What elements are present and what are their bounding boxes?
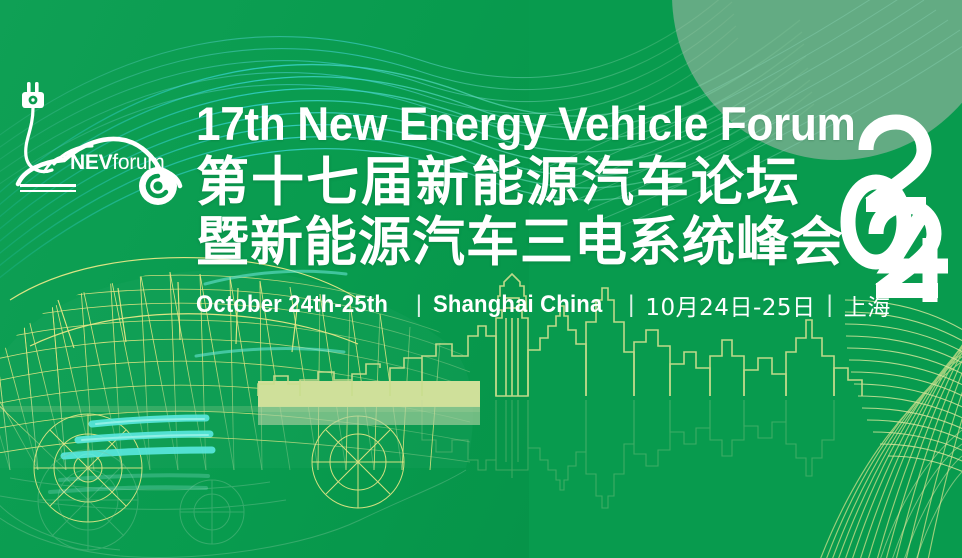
meta-date-en: October 24th-25th (196, 291, 388, 319)
logo-word-nev: NEV (70, 151, 112, 174)
meta-location-en: Shanghai China (433, 291, 602, 319)
event-banner: NEVforum 17th New Energy Vehicle Forum 第… (0, 0, 962, 558)
headline-chinese-line2: 暨新能源汽车三电系统峰会 (196, 213, 846, 273)
meta-date-cn: 10月24日-25日 (645, 288, 815, 322)
event-meta: October 24th-25th | Shanghai China | 10月… (196, 288, 846, 322)
meta-separator-1: | (405, 291, 433, 319)
headline-chinese-line1: 第十七届新能源汽车论坛 (196, 153, 846, 213)
meta-separator-2: | (617, 291, 645, 319)
nevforum-logo-mark (8, 78, 188, 213)
year-2024-mark: 2024 (830, 104, 950, 309)
year-2024-glyphs (830, 104, 950, 309)
nevforum-logo[interactable]: NEVforum (8, 78, 188, 213)
headline-english: 17th New Energy Vehicle Forum (196, 100, 807, 147)
charging-plug-icon (22, 82, 44, 108)
headline-block: 17th New Energy Vehicle Forum 第十七届新能源汽车论… (196, 100, 846, 322)
logo-word-forum: forum (112, 151, 164, 174)
